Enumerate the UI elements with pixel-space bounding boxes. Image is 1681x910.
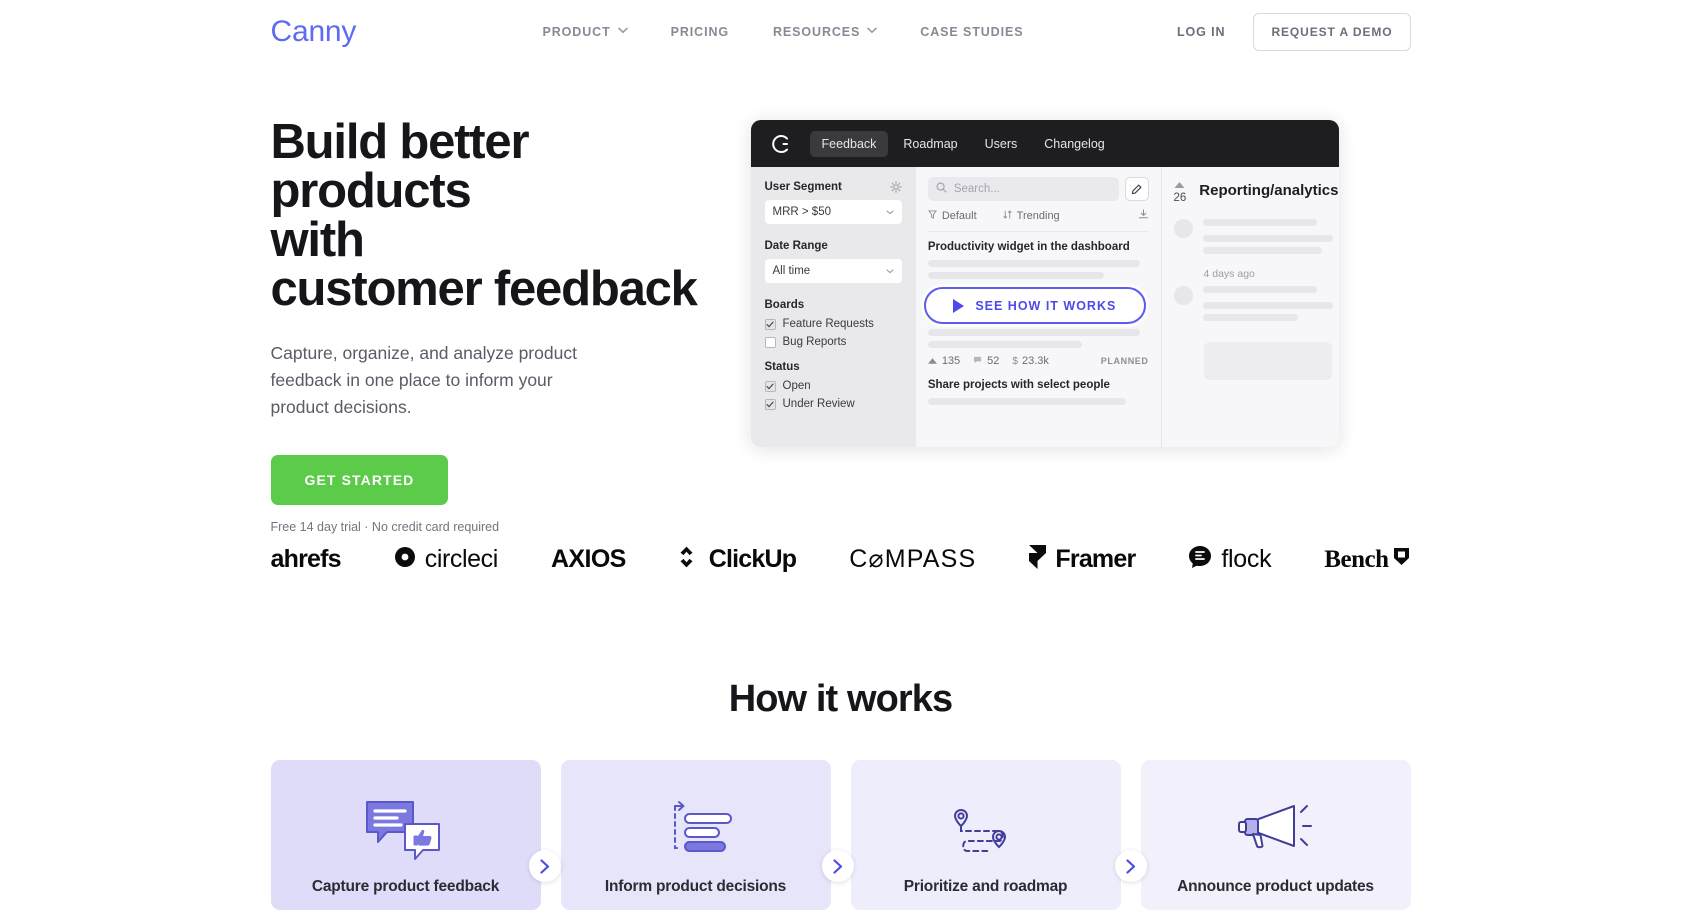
funnel-icon <box>928 210 937 222</box>
search-placeholder: Search... <box>954 183 1000 195</box>
skeleton-line <box>1203 286 1317 293</box>
request-demo-button[interactable]: REQUEST A DEMO <box>1253 13 1410 51</box>
carousel-arrow-3[interactable] <box>1115 850 1147 882</box>
hero-subtitle: Capture, organize, and analyze product f… <box>271 340 601 421</box>
post-item[interactable]: Share projects with select people <box>928 379 1149 405</box>
post-comments: 52 <box>973 355 999 367</box>
card-label: Prioritize and roadmap <box>851 878 1121 896</box>
search-icon <box>936 182 947 196</box>
logo-framer: Framer <box>1029 545 1135 574</box>
skeleton-line <box>1203 235 1334 242</box>
app-post-list: Search... Default <box>916 167 1162 447</box>
post-value: $ 23.3k <box>1012 355 1048 367</box>
nav-item-label: PRODUCT <box>543 25 611 39</box>
user-segment-value: MRR > $50 <box>773 206 831 218</box>
status-checkbox-open[interactable]: Open <box>765 380 902 392</box>
speech-bubble-thumbsup-icon <box>363 798 449 860</box>
card-prioritize-and-roadmap[interactable]: Prioritize and roadmap <box>851 760 1121 910</box>
status-badge: PLANNED <box>1101 356 1149 366</box>
app-tab-changelog[interactable]: Changelog <box>1032 131 1116 157</box>
bench-shield-icon <box>1393 547 1410 571</box>
sort-icon <box>1003 210 1012 222</box>
checkbox-checked-icon <box>765 399 776 410</box>
megaphone-icon <box>1231 798 1321 860</box>
hero-heading-line-2: with <box>271 216 701 265</box>
logo-label: AXIOS <box>551 547 626 572</box>
how-it-works-cards: Capture product feedback Inform product … <box>0 760 1681 910</box>
post-comment-count: 52 <box>987 355 999 367</box>
skeleton-line <box>928 272 1105 279</box>
logo-clickup: ClickUp <box>679 546 796 573</box>
status-label: Status <box>765 361 902 373</box>
app-filter-sidebar: User Segment MRR > $50 Date Range <box>751 167 916 447</box>
skeleton-line <box>1203 247 1323 254</box>
upvote-icon <box>928 355 937 367</box>
flock-bubble-icon <box>1188 545 1212 574</box>
see-how-it-works-button[interactable]: SEE HOW IT WORKS <box>924 287 1146 324</box>
status-label-item: Under Review <box>783 398 855 410</box>
upvote-icon <box>1174 179 1187 192</box>
skeleton-line <box>928 329 1140 336</box>
user-segment-label-row: User Segment <box>765 181 902 193</box>
hero-heading-line-3: customer feedback <box>271 265 701 314</box>
hero-heading-line-1: Build better products <box>271 118 701 216</box>
logo-label: ahrefs <box>271 547 341 572</box>
avatar <box>1174 219 1193 238</box>
card-label: Inform product decisions <box>561 878 831 896</box>
app-logo-icon <box>767 131 793 157</box>
user-segment-select[interactable]: MRR > $50 <box>765 200 902 224</box>
skeleton-line <box>928 341 1082 348</box>
date-range-select[interactable]: All time <box>765 259 902 283</box>
chevron-down-icon <box>867 27 876 36</box>
checkbox-checked-icon <box>765 319 776 330</box>
boards-label: Boards <box>765 299 902 311</box>
checkbox-unchecked-icon <box>765 337 776 348</box>
detail-vote[interactable]: 26 <box>1174 177 1187 205</box>
trial-note: Free 14 day trial · No credit card requi… <box>271 520 701 534</box>
route-pins-icon <box>943 798 1029 860</box>
logo-ahrefs: ahrefs <box>271 547 341 572</box>
logo-label: circleci <box>425 547 498 572</box>
app-topbar: Feedback Roadmap Users Changelog <box>751 120 1339 167</box>
carousel-arrow-2[interactable] <box>822 850 854 882</box>
circle-dot-icon <box>394 546 416 573</box>
edit-pencil-button[interactable] <box>1125 177 1149 201</box>
carousel-arrow-1[interactable] <box>529 850 561 882</box>
chevron-down-icon <box>886 206 894 218</box>
board-label: Feature Requests <box>783 318 874 330</box>
app-search-input[interactable]: Search... <box>928 177 1119 201</box>
detail-composer[interactable] <box>1204 342 1333 380</box>
post-votes: 135 <box>928 355 960 367</box>
top-navigation: Canny PRODUCT PRICING RESOURCES <box>0 0 1681 64</box>
filter-default[interactable]: Default <box>928 210 977 222</box>
brand-logo[interactable]: Canny <box>271 17 357 47</box>
logo-flock: flock <box>1188 545 1271 574</box>
detail-vote-count: 26 <box>1174 192 1187 204</box>
detail-title: Reporting/analytics <box>1199 177 1338 199</box>
app-tab-users[interactable]: Users <box>973 131 1030 157</box>
filter-trending[interactable]: Trending <box>1003 210 1060 222</box>
nav-item-label: RESOURCES <box>773 25 860 39</box>
skeleton-line <box>928 398 1127 405</box>
post-value-amount: 23.3k <box>1022 355 1049 367</box>
nav-item-product[interactable]: PRODUCT <box>543 25 627 39</box>
login-link[interactable]: LOG IN <box>1177 25 1225 39</box>
gear-icon[interactable] <box>890 181 902 193</box>
date-range-value: All time <box>773 265 811 277</box>
chevron-down-icon <box>886 265 894 277</box>
logo-label: ClickUp <box>709 547 796 572</box>
customer-logo-strip: ahrefs circleci AXIOS ClickUp <box>0 545 1681 574</box>
logo-label: C⌀MPASS <box>849 547 976 572</box>
download-icon[interactable] <box>1138 209 1149 223</box>
skeleton-line <box>1203 314 1298 321</box>
post-vote-count: 135 <box>942 355 960 367</box>
clickup-chevrons-icon <box>679 546 700 573</box>
app-post-detail: 26 Reporting/analytics 4 <box>1162 167 1339 447</box>
logo-label: Framer <box>1055 547 1135 572</box>
nav-item-resources[interactable]: RESOURCES <box>773 25 876 39</box>
card-label: Announce product updates <box>1141 878 1411 896</box>
hero-section: Build better products with customer feed… <box>0 100 1681 534</box>
detail-timestamp: 4 days ago <box>1204 268 1339 280</box>
skeleton-line <box>1203 219 1317 226</box>
date-range-label: Date Range <box>765 240 902 252</box>
status-checkbox-under-review[interactable]: Under Review <box>765 398 902 410</box>
app-filter-row: Default Trending <box>928 209 1149 232</box>
page-root: Canny PRODUCT PRICING RESOURCES <box>0 0 1681 910</box>
nav-item-pricing[interactable]: PRICING <box>671 25 729 39</box>
nav-item-case-studies[interactable]: CASE STUDIES <box>920 25 1023 39</box>
nav-item-label: PRICING <box>671 25 729 39</box>
skeleton-line <box>928 260 1140 267</box>
logo-bench: Bench <box>1324 547 1410 572</box>
hero-copy: Build better products with customer feed… <box>271 100 701 534</box>
skeleton-line <box>1203 302 1334 309</box>
filter-default-label: Default <box>942 210 977 222</box>
user-segment-label: User Segment <box>765 181 842 193</box>
card-announce-product-updates[interactable]: Announce product updates <box>1141 760 1411 910</box>
board-checkbox-bug-reports[interactable]: Bug Reports <box>765 336 902 348</box>
logo-label: flock <box>1221 547 1271 572</box>
card-capture-product-feedback[interactable]: Capture product feedback <box>271 760 541 910</box>
app-tab-roadmap[interactable]: Roadmap <box>891 131 969 157</box>
logo-compass: C⌀MPASS <box>849 547 976 572</box>
how-it-works-title: How it works <box>0 678 1681 721</box>
logo-label: Bench <box>1324 547 1388 572</box>
nav-links: PRODUCT PRICING RESOURCES CASE STUDIES <box>543 0 1024 64</box>
board-checkbox-feature-requests[interactable]: Feature Requests <box>765 318 902 330</box>
post-title: Share projects with select people <box>928 379 1149 391</box>
card-inform-product-decisions[interactable]: Inform product decisions <box>561 760 831 910</box>
comment-icon <box>973 355 982 367</box>
nav-actions: LOG IN REQUEST A DEMO <box>1177 0 1411 64</box>
avatar <box>1174 286 1193 305</box>
post-title: Productivity widget in the dashboard <box>928 241 1149 253</box>
chevron-down-icon <box>618 27 627 36</box>
checkbox-checked-icon <box>765 381 776 392</box>
sorted-list-arrow-icon <box>653 798 739 860</box>
play-icon <box>953 299 964 313</box>
get-started-button[interactable]: GET STARTED <box>271 455 449 505</box>
nav-item-label: CASE STUDIES <box>920 25 1023 39</box>
card-label: Capture product feedback <box>271 878 541 896</box>
board-label: Bug Reports <box>783 336 847 348</box>
app-tab-feedback[interactable]: Feedback <box>810 131 889 157</box>
page-title: Build better products with customer feed… <box>271 118 701 314</box>
status-label-item: Open <box>783 380 811 392</box>
filter-trending-label: Trending <box>1017 210 1060 222</box>
dollar-icon: $ <box>1012 356 1018 367</box>
logo-axios: AXIOS <box>551 547 626 572</box>
framer-icon <box>1029 545 1046 574</box>
product-screenshot: Feedback Roadmap Users Changelog User Se… <box>751 120 1339 447</box>
see-how-it-works-label: SEE HOW IT WORKS <box>975 299 1116 313</box>
logo-circleci: circleci <box>394 546 498 573</box>
